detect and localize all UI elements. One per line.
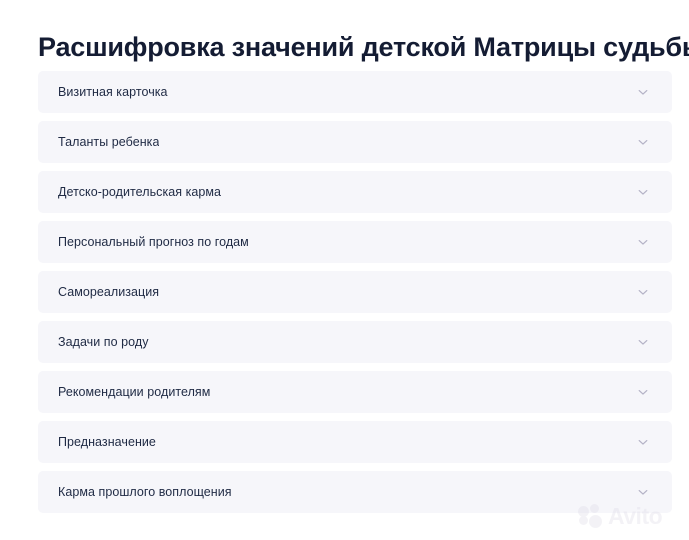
accordion-item-label: Рекомендации родителям — [58, 384, 210, 400]
chevron-down-icon[interactable] — [637, 336, 649, 348]
accordion-item-self-realization[interactable]: Самореализация — [38, 271, 672, 313]
accordion-list: Визитная карточка Таланты ребенка Детско… — [38, 71, 672, 513]
accordion-item-family-tasks[interactable]: Задачи по роду — [38, 321, 672, 363]
accordion-item-label: Таланты ребенка — [58, 134, 159, 150]
accordion-item-label: Персональный прогноз по годам — [58, 234, 249, 250]
page-root: Расшифровка значений детской Матрицы суд… — [0, 0, 689, 540]
accordion-item-label: Предназначение — [58, 434, 156, 450]
accordion-item-past-life-karma[interactable]: Карма прошлого воплощения — [38, 471, 672, 513]
chevron-down-icon[interactable] — [637, 386, 649, 398]
accordion-item-visiting-card[interactable]: Визитная карточка — [38, 71, 672, 113]
accordion-item-parent-child-karma[interactable]: Детско-родительская карма — [38, 171, 672, 213]
accordion-item-label: Карма прошлого воплощения — [58, 484, 232, 500]
accordion-item-label: Задачи по роду — [58, 334, 149, 350]
accordion-item-label: Визитная карточка — [58, 84, 168, 100]
chevron-down-icon[interactable] — [637, 186, 649, 198]
accordion-item-recommendations-for-parents[interactable]: Рекомендации родителям — [38, 371, 672, 413]
page-title: Расшифровка значений детской Матрицы суд… — [38, 26, 689, 68]
accordion-item-purpose[interactable]: Предназначение — [38, 421, 672, 463]
accordion-item-personal-yearly-forecast[interactable]: Персональный прогноз по годам — [38, 221, 672, 263]
accordion-item-label: Детско-родительская карма — [58, 184, 221, 200]
chevron-down-icon[interactable] — [637, 486, 649, 498]
chevron-down-icon[interactable] — [637, 286, 649, 298]
chevron-down-icon[interactable] — [637, 136, 649, 148]
accordion-item-child-talents[interactable]: Таланты ребенка — [38, 121, 672, 163]
chevron-down-icon[interactable] — [637, 86, 649, 98]
chevron-down-icon[interactable] — [637, 436, 649, 448]
chevron-down-icon[interactable] — [637, 236, 649, 248]
accordion-item-label: Самореализация — [58, 284, 159, 300]
